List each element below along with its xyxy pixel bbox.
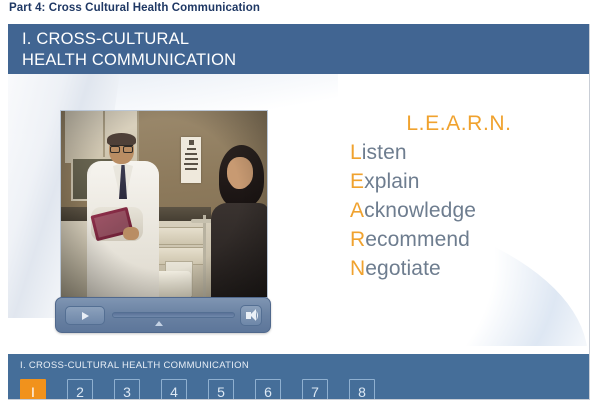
learn-item-negotiate-initial: N <box>350 257 365 280</box>
learn-item-listen-rest: isten <box>362 141 407 164</box>
page-title: Part 4: Cross Cultural Health Communicat… <box>9 2 260 14</box>
slide-header-title: I. CROSS-CULTURAL HEALTH COMMUNICATION <box>22 29 236 71</box>
learn-title: L.E.A.R.N. <box>338 112 568 136</box>
video-screen[interactable] <box>60 110 268 298</box>
video-player[interactable] <box>55 110 271 335</box>
learn-item-negotiate-rest: egotiate <box>365 257 441 280</box>
page-number-list: I 2 3 4 5 6 7 8 <box>20 379 375 400</box>
speaker-shape-icon <box>246 312 251 319</box>
bottom-navigation-bar: I. CROSS-CULTURAL HEALTH COMMUNICATION I… <box>8 354 589 400</box>
learn-item-listen: Listen <box>338 138 568 167</box>
video-scene-illustration <box>61 111 267 297</box>
volume-icon[interactable] <box>240 305 262 326</box>
slide-frame: I. CROSS-CULTURAL HEALTH COMMUNICATION <box>8 24 590 400</box>
page-button-8[interactable]: 8 <box>349 379 375 400</box>
learn-item-listen-initial: L <box>350 141 362 164</box>
learn-acronym-block: L.E.A.R.N. Listen Explain Acknowledge Re… <box>338 112 568 283</box>
scene-vignette <box>61 111 267 297</box>
navigation-section-label: I. CROSS-CULTURAL HEALTH COMMUNICATION <box>20 360 249 371</box>
video-control-bar <box>55 297 271 333</box>
page-button-3[interactable]: 3 <box>114 379 140 400</box>
learn-item-acknowledge-initial: A <box>350 199 364 222</box>
page-button-4[interactable]: 4 <box>161 379 187 400</box>
learn-item-recommend: Recommend <box>338 225 568 254</box>
video-progress-marker-icon[interactable] <box>155 321 163 326</box>
learn-item-explain: Explain <box>338 167 568 196</box>
page-button-2[interactable]: 2 <box>67 379 93 400</box>
learn-item-acknowledge: Acknowledge <box>338 196 568 225</box>
speaker-wave-icon <box>253 311 258 320</box>
page-button-7[interactable]: 7 <box>302 379 328 400</box>
learn-item-recommend-rest: ecommend <box>365 228 470 251</box>
learn-item-explain-initial: E <box>350 170 364 193</box>
page-button-6[interactable]: 6 <box>255 379 281 400</box>
page-button-5[interactable]: 5 <box>208 379 234 400</box>
slide-header: I. CROSS-CULTURAL HEALTH COMMUNICATION <box>8 24 589 75</box>
video-progress-bar[interactable] <box>112 312 235 318</box>
page-button-1[interactable]: I <box>20 379 46 400</box>
learn-item-recommend-initial: R <box>350 228 365 251</box>
play-triangle-icon <box>82 312 89 320</box>
learn-item-negotiate: Negotiate <box>338 254 568 283</box>
learn-item-explain-rest: xplain <box>364 170 419 193</box>
slide-body: L.E.A.R.N. Listen Explain Acknowledge Re… <box>8 74 589 346</box>
play-icon[interactable] <box>65 306 105 325</box>
learn-item-acknowledge-rest: cknowledge <box>364 199 476 222</box>
